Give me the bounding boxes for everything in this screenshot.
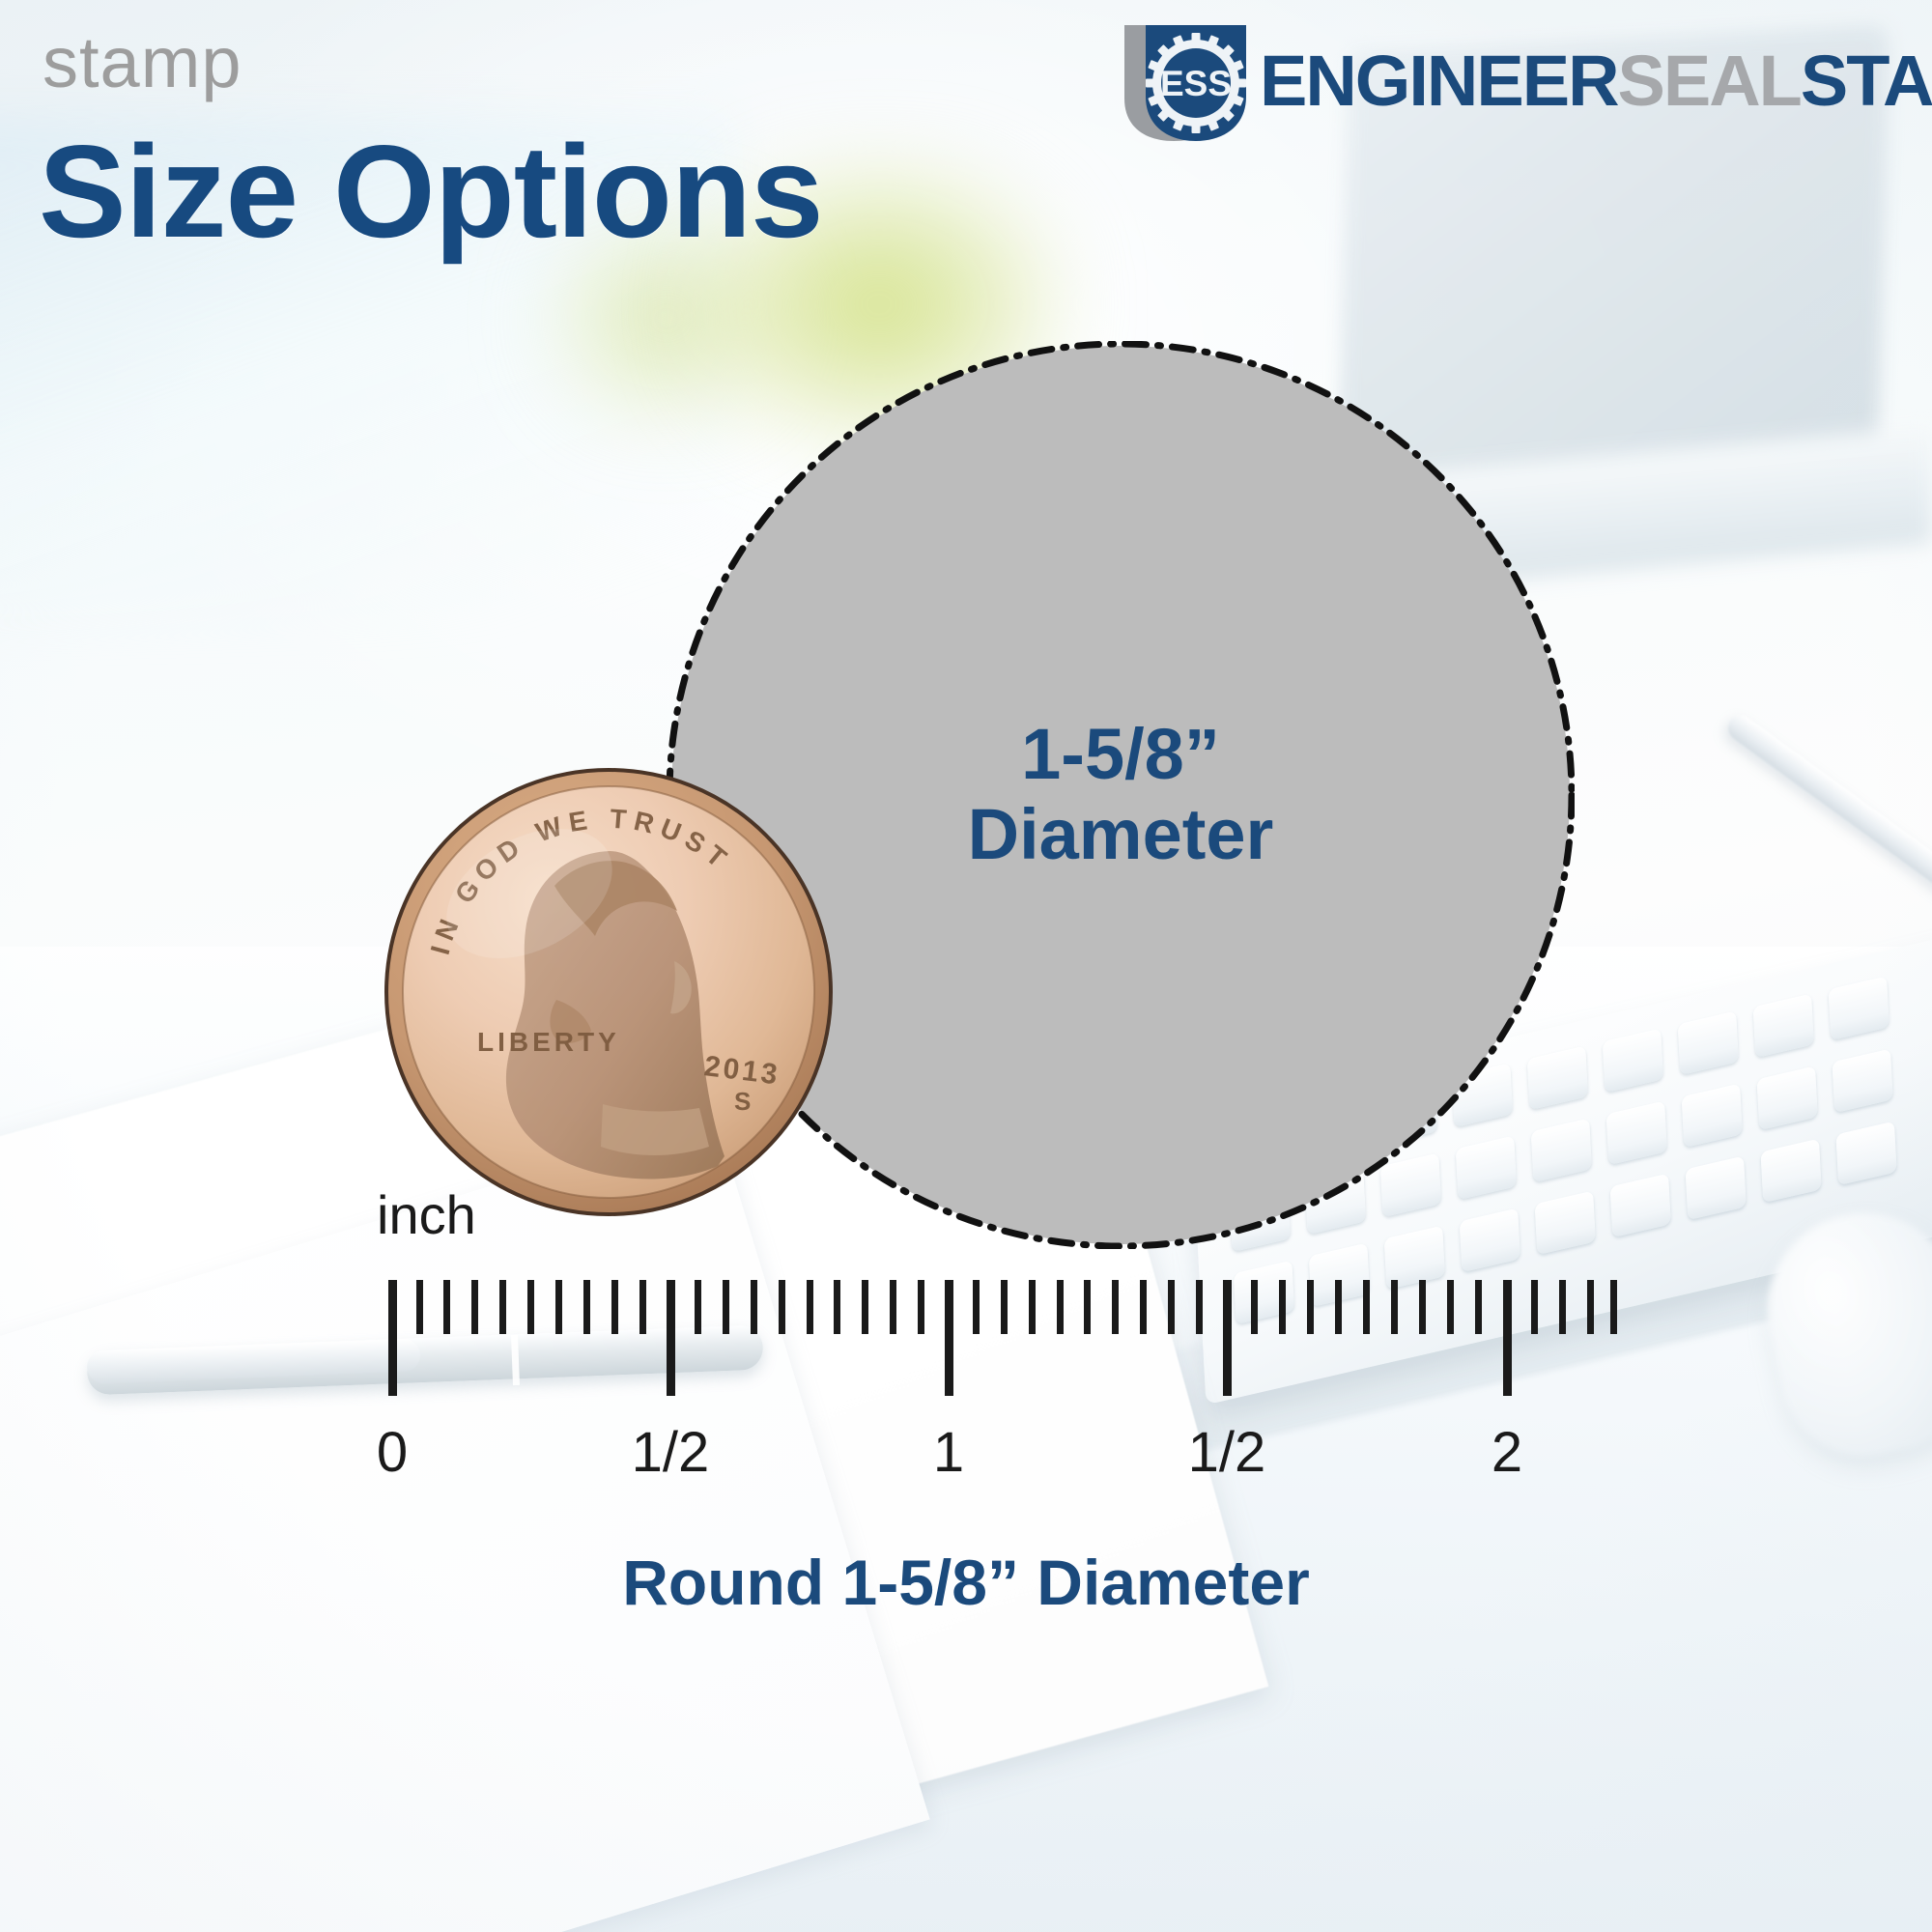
page-title: Size Options (39, 126, 823, 257)
ruler-label-1: 1 (933, 1425, 964, 1481)
eyebrow-label: stamp (43, 27, 242, 99)
penny-reference-coin: IN GOD WE TRUST LIBERTY 2013 S (384, 768, 834, 1217)
ess-shield-icon: ESS (1101, 14, 1275, 149)
ruler-major-tick-1half (1223, 1280, 1232, 1396)
logo-word-seal: SEAL (1618, 45, 1801, 117)
brand-wordmark: ENGINEER SEAL STAMPS .COM (1260, 43, 1932, 121)
logo-word-engineer: ENGINEER (1260, 45, 1618, 117)
ruler-major-tick-0 (388, 1280, 397, 1396)
ruler-label-half: 1/2 (632, 1425, 710, 1481)
ruler-major-tick-2 (1503, 1280, 1512, 1396)
ruler-major-tick-half (667, 1280, 675, 1396)
brand-logo[interactable]: ESS ENGINEER SEAL STAMPS .COM (1101, 14, 1932, 149)
size-options-graphic: stamp Size Options (0, 0, 1932, 1932)
coin-liberty-text: LIBERTY (477, 1027, 620, 1057)
ruler-label-1half: 1/2 (1188, 1425, 1266, 1481)
logo-word-stamps: STAMPS (1801, 45, 1932, 117)
size-caption: Round 1-5/8” Diameter (0, 1546, 1932, 1619)
ruler-label-2: 2 (1492, 1425, 1522, 1481)
ruler-major-tick-1 (945, 1280, 953, 1396)
size-value: 1-5/8” (1021, 714, 1220, 794)
coin-mintmark-text: S (734, 1087, 751, 1116)
ruler-label-0: 0 (377, 1425, 408, 1481)
ruler-unit-label: inch (377, 1188, 476, 1242)
inch-ruler: inch (0, 1236, 1932, 1526)
ess-monogram: ESS (1160, 64, 1232, 103)
